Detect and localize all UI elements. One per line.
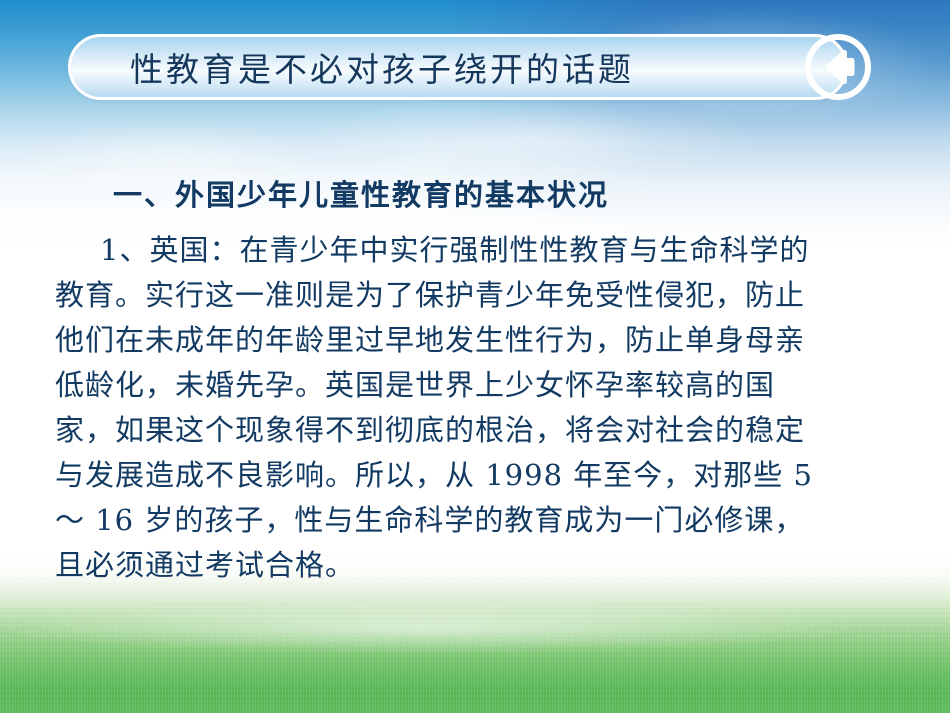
body-line: 家，如果这个现象得不到彻底的根治，将会对社会的稳定 [55, 408, 905, 453]
body-line: 且必须通过考试合格。 [55, 543, 905, 588]
body-line: 低龄化，未婚先孕。英国是世界上少女怀孕率较高的国 [55, 363, 905, 408]
slide-title: 性教育是不必对孩子绕开的话题 [130, 34, 790, 100]
body-line: 1、英国：在青少年中实行强制性性教育与生命科学的 [55, 228, 905, 273]
body-line: ～ 16 岁的孩子，性与生命科学的教育成为一门必修课， [55, 498, 905, 543]
body-line: 与发展造成不良影响。所以，从 1998 年至今，对那些 5 [55, 453, 905, 498]
slide-body: 一、外国少年儿童性教育的基本状况 1、英国：在青少年中实行强制性性教育与生命科学… [55, 172, 905, 588]
slide-canvas: 性教育是不必对孩子绕开的话题 一、外国少年儿童性教育的基本状况 1、英国：在青少… [0, 0, 950, 713]
section-heading: 一、外国少年儿童性教育的基本状况 [55, 172, 905, 214]
body-line: 他们在未成年的年龄里过早地发生性行为，防止单身母亲 [55, 318, 905, 363]
back-button[interactable] [803, 32, 873, 102]
body-paragraph: 1、英国：在青少年中实行强制性性教育与生命科学的 教育。实行这一准则是为了保护青… [55, 228, 905, 588]
body-line: 教育。实行这一准则是为了保护青少年免受性侵犯，防止 [55, 273, 905, 318]
grass-haze-overlay [0, 585, 950, 655]
